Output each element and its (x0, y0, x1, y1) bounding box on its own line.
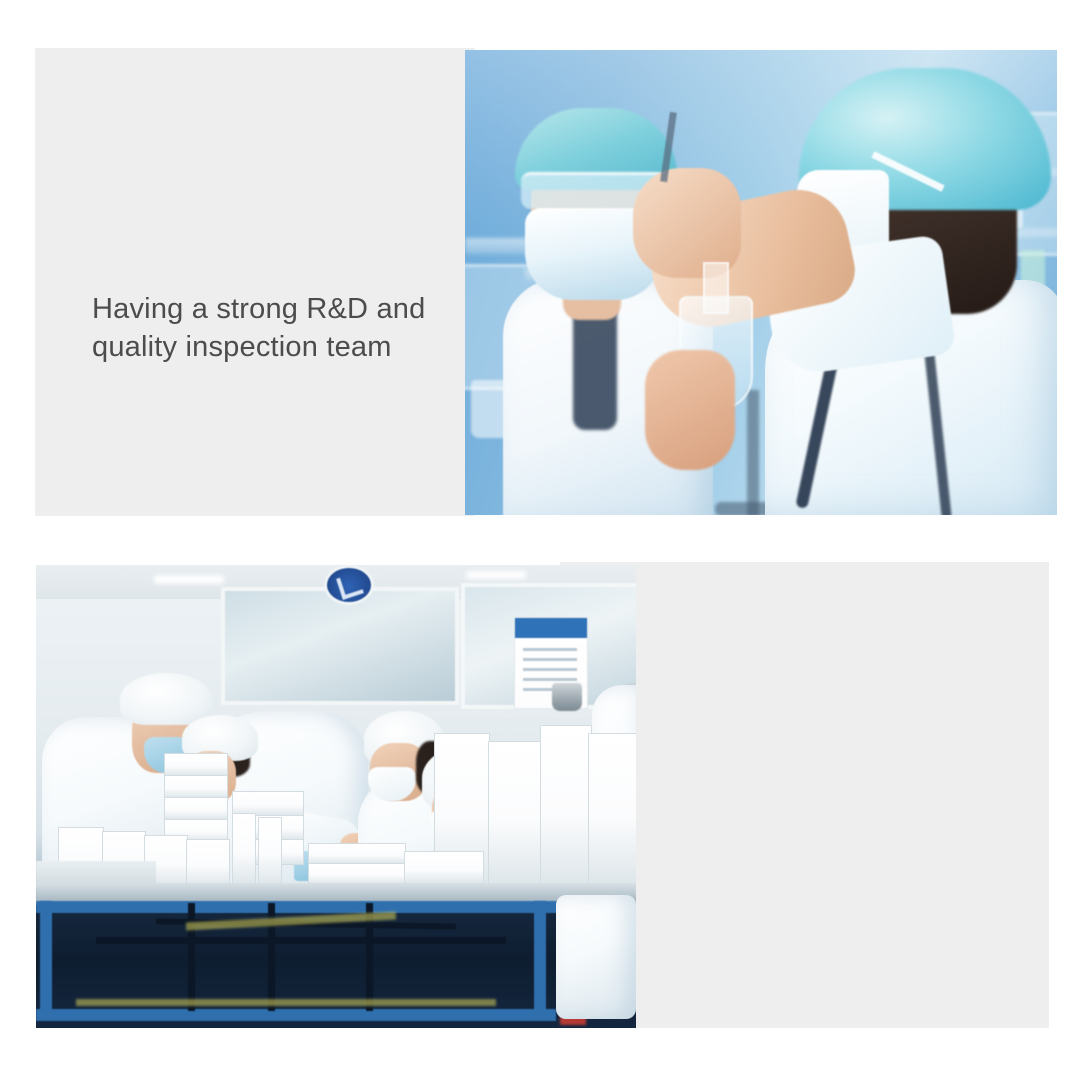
box-stack-right-2 (488, 741, 542, 885)
ceiling-light-3 (466, 571, 526, 579)
box-stack-center-3 (164, 797, 228, 821)
ceiling-light-1 (154, 575, 224, 584)
bottom-section: a warehouse distribution area a warehous… (0, 540, 1080, 1080)
box-front-tray-1 (308, 843, 406, 865)
cleanroom-window-left (221, 587, 459, 705)
table-frame-rail-bottom (36, 1009, 556, 1021)
steel-pot-1 (552, 683, 582, 711)
lab-stand-pole (747, 390, 759, 515)
box-stack-center-1 (164, 753, 228, 777)
table-vertical-rod-1 (188, 903, 195, 1011)
worker-4-lower-coat (556, 895, 636, 1019)
page-root: Having a strong R&D and quality inspecti… (0, 0, 1080, 1080)
warehouse-packing-photo (36, 565, 636, 1028)
floor-hazard-stripe-2 (76, 999, 496, 1006)
box-stack-right-4 (588, 733, 636, 885)
technician-right-second-hand (645, 350, 735, 470)
box-bottle-1 (232, 813, 256, 885)
box-stack-center-2 (164, 775, 228, 799)
box-bottle-2 (258, 817, 282, 885)
lab-team-photo (465, 50, 1057, 515)
box-front-4 (186, 839, 230, 887)
box-stack-right-3 (540, 725, 592, 885)
table-frame-rail-top (36, 901, 596, 913)
table-cross-rod-1 (96, 937, 506, 944)
blue-circular-sign-icon (324, 565, 374, 605)
table-frame-leg-right (534, 901, 546, 1019)
top-caption-text: Having a strong R&D and quality inspecti… (92, 290, 492, 366)
packing-scene (36, 565, 636, 1028)
worker-1-hairnet (120, 673, 212, 725)
lab-scene (465, 50, 1057, 515)
table-frame-leg-left (40, 901, 52, 1019)
box-front-tray-2 (308, 863, 406, 885)
box-front-tray-3 (404, 851, 484, 885)
top-caption-panel: Having a strong R&D and quality inspecti… (35, 48, 475, 516)
top-section: Having a strong R&D and quality inspecti… (0, 0, 1080, 540)
